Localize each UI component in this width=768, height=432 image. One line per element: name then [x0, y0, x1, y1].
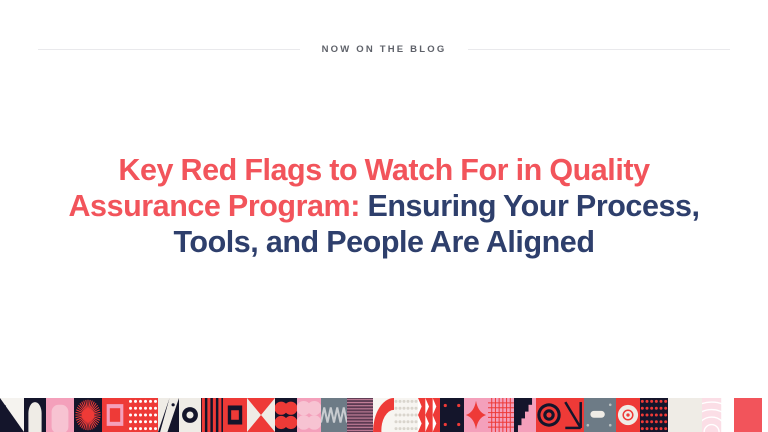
page-title: Key Red Flags to Watch For in Quality As…	[0, 152, 768, 260]
pattern-tile-donut-ink	[179, 398, 201, 432]
pattern-tile-nested-square-red	[102, 398, 128, 432]
eyebrow-rule-right	[468, 49, 730, 50]
pattern-tile-dot-grid-cream	[394, 398, 418, 432]
pattern-tile-grid-lines-pink	[488, 398, 514, 432]
pattern-tile-vertical-stripes-red	[201, 398, 223, 432]
pattern-tile-arch-window-cream	[24, 398, 46, 432]
pattern-tile-triangle-ink-dot	[158, 398, 179, 432]
pattern-tile-diagonal-arrow-red	[562, 398, 584, 432]
pattern-tile-micro-dot-grid-plum	[347, 398, 373, 432]
eyebrow: NOW ON THE BLOG	[38, 44, 730, 55]
pattern-tile-plain-pink-block	[734, 398, 762, 432]
pattern-tile-staircase-pink	[514, 398, 536, 432]
pattern-tile-petal-quad-red	[275, 398, 297, 432]
pattern-tile-sonar-arc-pink	[702, 398, 734, 432]
pattern-tile-pill-capsule-slate	[584, 398, 616, 432]
pattern-tile-bowtie-red	[247, 398, 275, 432]
pattern-tile-dot-grid-red	[128, 398, 158, 432]
pattern-tile-petal-quad-pink	[297, 398, 321, 432]
title-heading: Key Red Flags to Watch For in Quality As…	[40, 152, 728, 260]
pattern-tile-concentric-rings-red	[536, 398, 562, 432]
pattern-tile-sunburst-circle-red	[74, 398, 102, 432]
pattern-tile-diagonal-split-ink-dot	[0, 398, 24, 432]
eyebrow-label: NOW ON THE BLOG	[300, 44, 469, 55]
pattern-tile-record-disc-red	[616, 398, 640, 432]
pattern-tile-wave-chevron-red	[418, 398, 440, 432]
pattern-tile-corner-dots-ink	[440, 398, 464, 432]
pattern-tile-square-in-square-red	[223, 398, 247, 432]
geometric-pattern-band	[0, 398, 768, 432]
pattern-tile-rounded-rect-pink	[46, 398, 74, 432]
pattern-tile-dot-grid-ink	[640, 398, 668, 432]
eyebrow-rule-left	[38, 49, 300, 50]
pattern-tile-four-point-star-red	[464, 398, 488, 432]
pattern-tile-plain-cream	[668, 398, 702, 432]
blog-header-graphic: NOW ON THE BLOG Key Red Flags to Watch F…	[0, 0, 768, 432]
pattern-tile-quarter-arc-red	[373, 398, 394, 432]
pattern-tile-zigzag-slate	[321, 398, 347, 432]
